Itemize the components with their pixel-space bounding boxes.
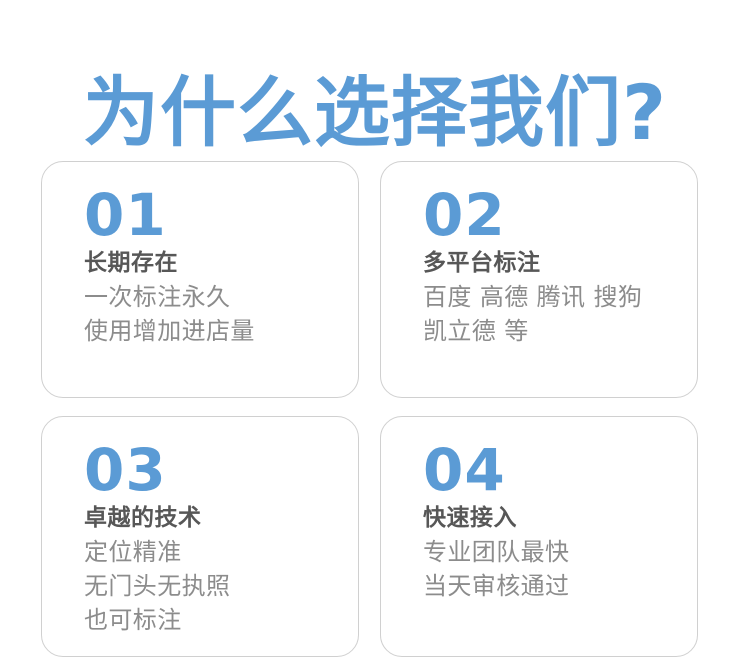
feature-card-heading: 长期存在 — [84, 248, 340, 279]
feature-card-heading: 快速接入 — [423, 503, 679, 534]
feature-card-grid: 01 长期存在 一次标注永久 使用增加进店量 02 多平台标注 百度 高德 腾讯… — [41, 161, 698, 657]
feature-card-number: 03 — [84, 439, 340, 501]
feature-card-heading: 卓越的技术 — [84, 503, 340, 534]
feature-card-body: 定位精准 无门头无执照 也可标注 — [84, 535, 340, 637]
feature-card-number: 02 — [423, 184, 679, 246]
feature-card-body: 百度 高德 腾讯 搜狗 凯立德 等 — [423, 280, 679, 348]
feature-card-body: 专业团队最快 当天审核通过 — [423, 535, 679, 603]
feature-card-number: 01 — [84, 184, 340, 246]
feature-card-body-line: 使用增加进店量 — [84, 314, 340, 348]
feature-card-body-line: 一次标注永久 — [84, 280, 340, 314]
feature-card-number: 04 — [423, 439, 679, 501]
page-title: 为什么选择我们? — [0, 65, 750, 161]
promo-page: 为什么选择我们? 01 长期存在 一次标注永久 使用增加进店量 02 多平台标注… — [0, 0, 750, 668]
feature-card-body-line: 当天审核通过 — [423, 569, 679, 603]
feature-card-body: 一次标注永久 使用增加进店量 — [84, 280, 340, 348]
feature-card-body-line: 凯立德 等 — [423, 314, 679, 348]
feature-card-body-line: 专业团队最快 — [423, 535, 679, 569]
feature-card-02[interactable]: 02 多平台标注 百度 高德 腾讯 搜狗 凯立德 等 — [380, 161, 698, 398]
feature-card-heading: 多平台标注 — [423, 248, 679, 279]
feature-card-04[interactable]: 04 快速接入 专业团队最快 当天审核通过 — [380, 416, 698, 657]
feature-card-body-line: 百度 高德 腾讯 搜狗 — [423, 280, 679, 314]
feature-card-body-line: 定位精准 — [84, 535, 340, 569]
feature-card-body-line: 无门头无执照 — [84, 569, 340, 603]
feature-card-03[interactable]: 03 卓越的技术 定位精准 无门头无执照 也可标注 — [41, 416, 359, 657]
feature-card-01[interactable]: 01 长期存在 一次标注永久 使用增加进店量 — [41, 161, 359, 398]
feature-card-body-line: 也可标注 — [84, 603, 340, 637]
